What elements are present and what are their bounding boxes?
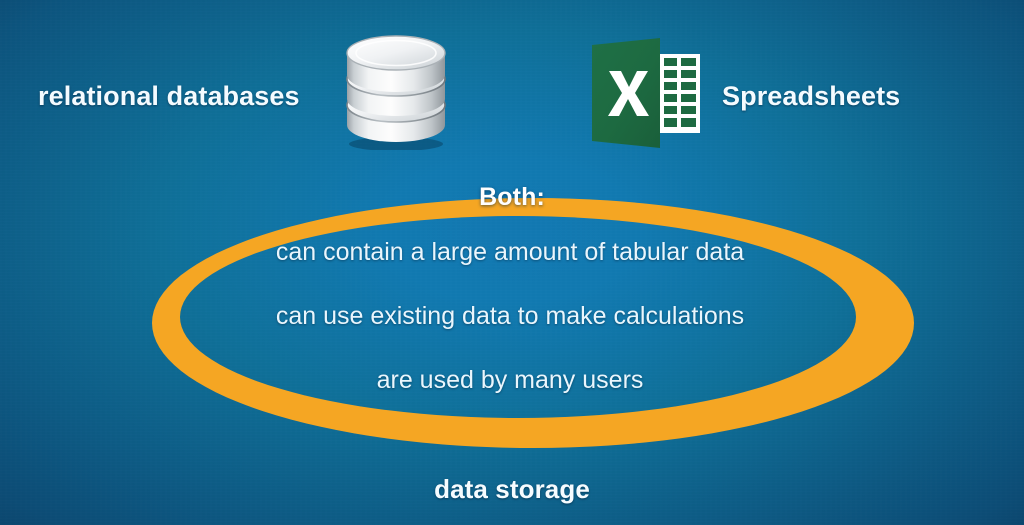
- both-title: Both:: [0, 183, 1024, 212]
- data-storage-label: data storage: [0, 474, 1024, 505]
- both-venn-region: Both: can contain a large amount of tabu…: [0, 0, 1024, 525]
- slide-canvas: relational databases: [0, 0, 1024, 525]
- list-item: are used by many users: [150, 368, 870, 393]
- list-item: can use existing data to make calculatio…: [150, 304, 870, 329]
- shared-attributes-list: can contain a large amount of tabular da…: [150, 240, 870, 393]
- list-item: can contain a large amount of tabular da…: [150, 240, 870, 265]
